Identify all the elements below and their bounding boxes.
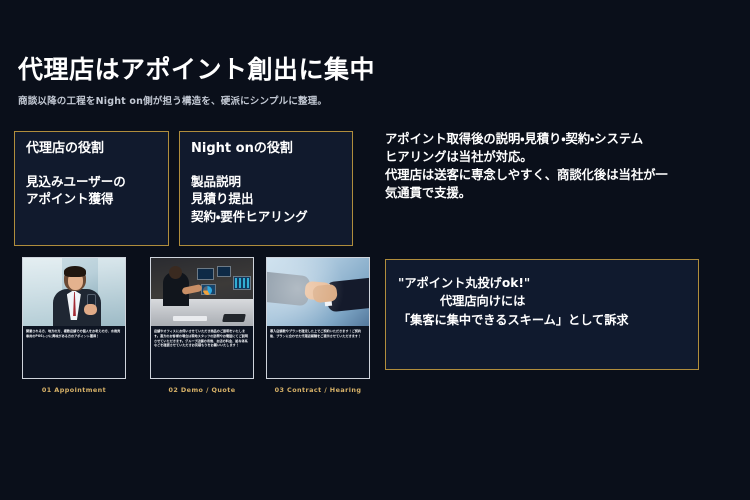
role-card-agency: 代理店の役割 見込みユーザーの アポイント獲得	[14, 131, 169, 246]
businessman-smartphone-photo	[23, 258, 125, 326]
role-card-agency-line-1: 見込みユーザーの	[26, 173, 157, 191]
handshake-photo	[267, 258, 369, 326]
page-subtitle: 商談以降の工程をNight on側が担う構造を、硬派にシンプルに整理。	[18, 93, 448, 107]
step-card-03-label: 03 Contract / Hearing	[266, 386, 370, 394]
quote-line-3: 「集客に集中できるスキーム」として訴求	[398, 311, 686, 329]
office-monitors-meeting-photo	[151, 258, 253, 326]
step-card-03[interactable]: 導入店舗数やプランを確定した上でご契約いただきます！ご契約後、プランに合わせた代…	[266, 257, 370, 394]
page-title: 代理店はアポイント創出に集中	[18, 56, 448, 85]
description-line-2: ヒアリングは当社が対応。	[385, 149, 733, 167]
description-line-4: 気通貫で支援。	[385, 185, 733, 203]
quote-line-1: "アポイント丸投げok!"	[398, 274, 686, 292]
role-card-nighton: Night onの役割 製品説明 見積り提出 契約・要件ヒアリング	[179, 131, 353, 246]
step-card-02-label: 02 Demo / Quote	[150, 386, 254, 394]
role-card-nighton-line-3: 契約・要件ヒアリング	[191, 208, 341, 226]
role-card-nighton-line-2: 見積り提出	[191, 190, 341, 208]
quote-line-2: 代理店向けには	[398, 292, 686, 310]
step-card-02-caption: 店舗やオフィスにお伺いさせていただき商品のご説明をいたします。遠方のお客様の場合…	[151, 326, 253, 378]
step-card-02[interactable]: 店舗やオフィスにお伺いさせていただき商品のご説明をいたします。遠方のお客様の場合…	[150, 257, 254, 394]
step-card-01-body: 開業される方、地方の方、複数店舗での個人をお考えの方、水商売専用のPOSレジに興…	[22, 257, 126, 379]
description-line-1: アポイント取得後の説明・見積り・契約・システム	[385, 131, 733, 149]
description-block: アポイント取得後の説明・見積り・契約・システム ヒアリングは当社が対応。 代理店…	[385, 131, 733, 203]
role-card-nighton-heading: Night onの役割	[191, 141, 341, 157]
step-card-03-body: 導入店舗数やプランを確定した上でご契約いただきます！ご契約後、プランに合わせた代…	[266, 257, 370, 379]
description-line-3: 代理店は送客に専念しやすく、商談化後は当社が一	[385, 167, 733, 185]
role-card-nighton-line-1: 製品説明	[191, 173, 341, 191]
role-card-agency-heading: 代理店の役割	[26, 141, 157, 157]
step-card-01[interactable]: 開業される方、地方の方、複数店舗での個人をお考えの方、水商売専用のPOSレジに興…	[22, 257, 126, 394]
messaging-quote-box: "アポイント丸投げok!" 代理店向けには 「集客に集中できるスキーム」として訴…	[385, 259, 699, 370]
slide-root: 代理店はアポイント創出に集中 商談以降の工程をNight on側が担う構造を、硬…	[0, 0, 750, 500]
role-card-agency-line-2: アポイント獲得	[26, 190, 157, 208]
step-card-01-label: 01 Appointment	[22, 386, 126, 394]
slide-header: 代理店はアポイント創出に集中 商談以降の工程をNight on側が担う構造を、硬…	[18, 56, 448, 107]
step-card-02-body: 店舗やオフィスにお伺いさせていただき商品のご説明をいたします。遠方のお客様の場合…	[150, 257, 254, 379]
step-card-03-caption: 導入店舗数やプランを確定した上でご契約いただきます！ご契約後、プランに合わせた代…	[267, 326, 369, 378]
step-card-01-caption: 開業される方、地方の方、複数店舗での個人をお考えの方、水商売専用のPOSレジに興…	[23, 326, 125, 378]
